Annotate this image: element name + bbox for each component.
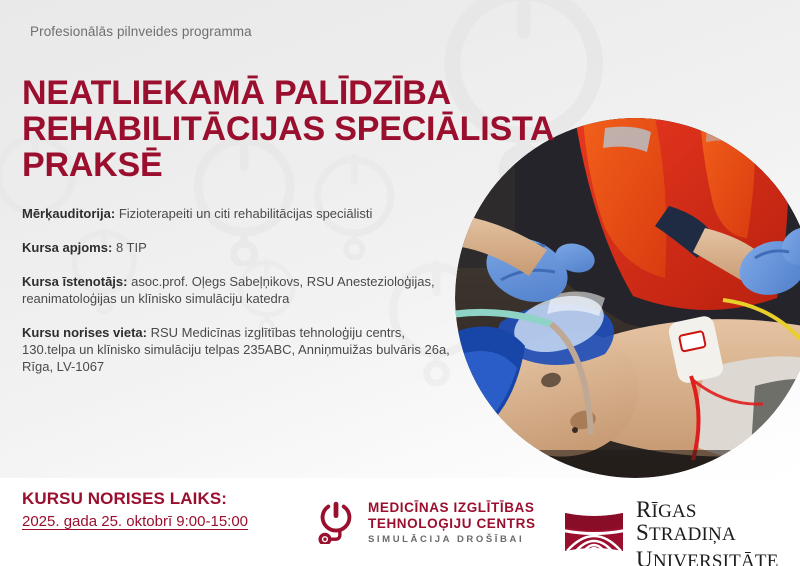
- logo-mitc-line2: TEHNOLOĢIJU CENTRS: [368, 517, 536, 531]
- detail-value: Fizioterapeiti un citi rehabilitācijas s…: [119, 206, 373, 221]
- logo-rsu-line1: RĪGAS STRADIŅA: [636, 498, 800, 544]
- page-title: NEATLIEKAMĀ PALĪDZĪBA REHABILITĀCIJAS SP…: [22, 75, 622, 183]
- poster: Profesionālās pilnveides programma NEATL…: [0, 0, 800, 566]
- detail-item-venue: Kursu norises vieta: RSU Medicīnas izglī…: [22, 324, 452, 375]
- detail-value: 8 TIP: [116, 240, 147, 255]
- program-kicker: Profesionālās pilnveides programma: [30, 24, 252, 39]
- logo-mitc[interactable]: MEDICĪNAS IZGLĪTĪBAS TEHNOLOĢIJU CENTRS …: [312, 496, 536, 549]
- logo-rsu-text: RĪGAS STRADIŅA UNIVERSITĀTE: [636, 498, 800, 566]
- detail-item-audience: Mērķauditorija: Fizioterapeiti un citi r…: [22, 205, 452, 222]
- detail-label: Mērķauditorija:: [22, 206, 115, 221]
- detail-label: Kursa īstenotājs:: [22, 274, 127, 289]
- logo-mitc-text: MEDICĪNAS IZGLĪTĪBAS TEHNOLOĢIJU CENTRS …: [368, 501, 536, 545]
- power-stethoscope-icon: [312, 496, 360, 549]
- schedule-heading: KURSU NORISES LAIKS:: [22, 489, 227, 509]
- logo-mitc-tagline: SIMULĀCIJA DROŠĪBAI: [368, 535, 536, 545]
- detail-label: Kursa apjoms:: [22, 240, 112, 255]
- details-list: Mērķauditorija: Fizioterapeiti un citi r…: [22, 205, 452, 375]
- detail-label: Kursu norises vieta:: [22, 325, 147, 340]
- logo-mitc-line1: MEDICĪNAS IZGLĪTĪBAS: [368, 501, 536, 515]
- detail-item-lecturer: Kursa īstenotājs: asoc.prof. Oļegs Sabeļ…: [22, 273, 452, 307]
- rsu-arcs-mark-icon: [563, 511, 625, 558]
- logo-rsu-line2: UNIVERSITĀTE: [636, 548, 800, 566]
- logo-rsu[interactable]: RĪGAS STRADIŅA UNIVERSITĀTE: [563, 498, 800, 566]
- detail-item-volume: Kursa apjoms: 8 TIP: [22, 239, 452, 256]
- schedule-value: 2025. gada 25. oktobrī 9:00-15:00: [22, 513, 248, 530]
